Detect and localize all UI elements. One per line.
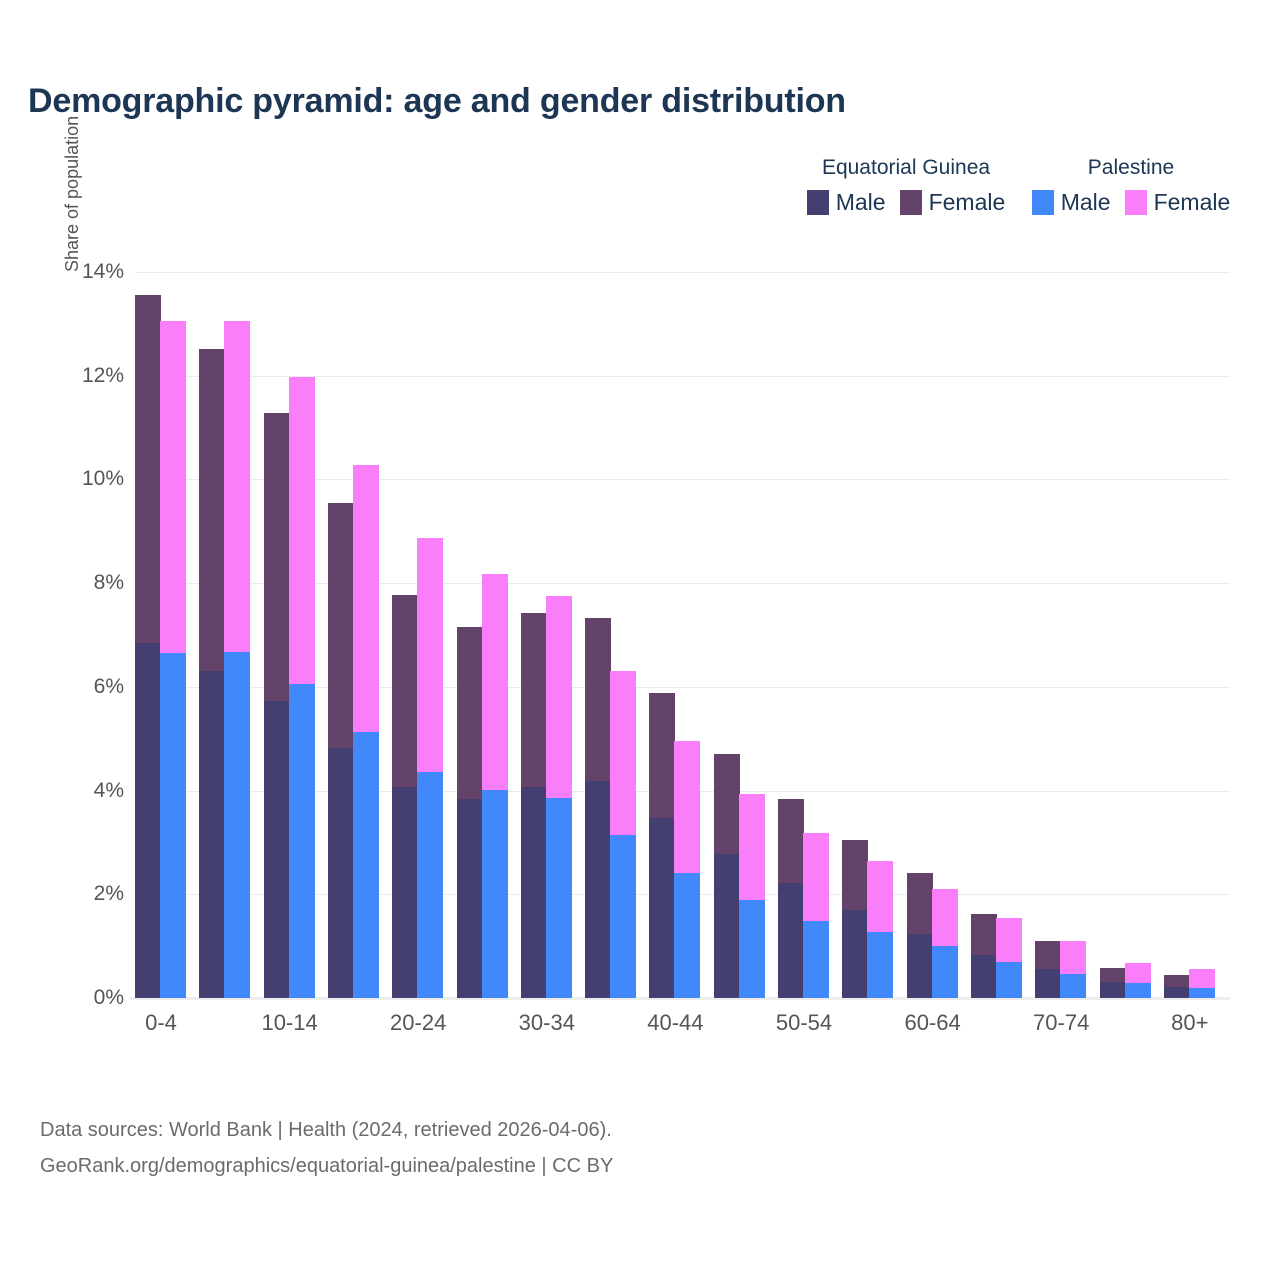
bar-equatorial-guinea-male-segment — [457, 799, 483, 998]
bar-palestine[interactable] — [803, 833, 829, 998]
bar-palestine-male-segment — [1125, 983, 1151, 998]
bar-palestine[interactable] — [867, 861, 893, 998]
x-axis-tick-label: 20-24 — [390, 1010, 446, 1036]
bar-equatorial-guinea[interactable] — [1035, 941, 1061, 998]
bar-equatorial-guinea-male-segment — [907, 934, 933, 998]
bar-equatorial-guinea[interactable] — [649, 693, 675, 998]
bar-palestine[interactable] — [289, 377, 315, 998]
bar-equatorial-guinea-female-segment — [649, 693, 675, 817]
x-axis-tick-label: 10-14 — [261, 1010, 317, 1036]
bar-palestine-female-segment — [932, 889, 958, 946]
bar-group[interactable] — [392, 272, 445, 998]
bar-equatorial-guinea[interactable] — [392, 595, 418, 998]
legend-item-eg-male[interactable]: Male — [807, 189, 886, 216]
x-axis-tick-label: 70-74 — [1033, 1010, 1089, 1036]
y-axis-tick-label: 12% — [14, 364, 124, 388]
bar-equatorial-guinea[interactable] — [907, 873, 933, 998]
bar-palestine[interactable] — [1060, 941, 1086, 998]
bar-palestine[interactable] — [1189, 969, 1215, 998]
bar-equatorial-guinea-female-segment — [1100, 968, 1126, 982]
bar-palestine[interactable] — [417, 538, 443, 998]
bar-group[interactable] — [328, 272, 381, 998]
x-axis-tick-label: 80+ — [1171, 1010, 1208, 1036]
bar-equatorial-guinea[interactable] — [1100, 968, 1126, 998]
legend-label-ps-male: Male — [1061, 189, 1111, 216]
bar-equatorial-guinea-female-segment — [457, 627, 483, 800]
bar-palestine-female-segment — [1189, 969, 1215, 988]
x-axis-tick-label: 40-44 — [647, 1010, 703, 1036]
bar-equatorial-guinea-male-segment — [1164, 987, 1190, 998]
bar-palestine-male-segment — [803, 921, 829, 998]
bar-palestine-male-segment — [353, 732, 379, 998]
bar-palestine[interactable] — [1125, 963, 1151, 998]
bar-palestine[interactable] — [674, 741, 700, 998]
legend-item-ps-female[interactable]: Female — [1125, 189, 1231, 216]
bar-palestine[interactable] — [160, 321, 186, 998]
bar-equatorial-guinea-female-segment — [135, 295, 161, 642]
bar-equatorial-guinea-male-segment — [1100, 982, 1126, 998]
bar-group[interactable] — [135, 272, 188, 998]
bar-palestine[interactable] — [353, 465, 379, 998]
bar-equatorial-guinea[interactable] — [778, 799, 804, 998]
bar-palestine-male-segment — [160, 653, 186, 998]
bar-equatorial-guinea-female-segment — [778, 799, 804, 883]
legend-items: Male Female Male Female — [792, 189, 1242, 216]
bar-equatorial-guinea-male-segment — [392, 787, 418, 998]
y-axis-ticks: 0%2%4%6%8%10%12%14% — [14, 272, 124, 998]
bar-equatorial-guinea-female-segment — [199, 349, 225, 672]
bar-palestine-male-segment — [674, 873, 700, 998]
bar-palestine-female-segment — [546, 596, 572, 799]
bar-equatorial-guinea[interactable] — [842, 840, 868, 998]
bar-palestine-male-segment — [546, 798, 572, 998]
legend-group-titles: Equatorial Guinea Palestine — [792, 155, 1242, 181]
y-axis-tick-label: 2% — [14, 882, 124, 906]
bar-palestine-female-segment — [1060, 941, 1086, 974]
bar-equatorial-guinea[interactable] — [521, 613, 547, 998]
legend-group-title-equatorial-guinea: Equatorial Guinea — [792, 155, 1020, 181]
bar-group[interactable] — [199, 272, 252, 998]
bar-equatorial-guinea[interactable] — [971, 914, 997, 998]
bar-palestine[interactable] — [932, 889, 958, 998]
bar-group[interactable] — [521, 272, 574, 998]
bar-palestine-female-segment — [1125, 963, 1151, 984]
bar-palestine-female-segment — [224, 321, 250, 652]
bar-equatorial-guinea[interactable] — [714, 754, 740, 998]
bar-equatorial-guinea-male-segment — [521, 787, 547, 998]
bar-palestine-female-segment — [803, 833, 829, 921]
bar-palestine-female-segment — [482, 574, 508, 790]
bar-equatorial-guinea-female-segment — [585, 618, 611, 781]
bar-palestine[interactable] — [546, 596, 572, 998]
bar-palestine-male-segment — [867, 932, 893, 998]
legend-set-equatorial-guinea: Male Female — [792, 189, 1020, 216]
x-axis-tick-label: 0-4 — [145, 1010, 177, 1036]
legend-label-eg-male: Male — [836, 189, 886, 216]
bar-equatorial-guinea-female-segment — [264, 413, 290, 701]
y-axis-tick-label: 8% — [14, 571, 124, 595]
bar-group[interactable] — [714, 272, 767, 998]
bar-equatorial-guinea[interactable] — [457, 627, 483, 998]
bar-equatorial-guinea-male-segment — [1035, 969, 1061, 998]
bar-group[interactable] — [1035, 272, 1088, 998]
y-axis-tick-label: 6% — [14, 675, 124, 699]
bar-palestine-male-segment — [1060, 974, 1086, 998]
bar-palestine[interactable] — [482, 574, 508, 998]
bar-equatorial-guinea-male-segment — [328, 748, 354, 998]
bar-equatorial-guinea-female-segment — [1035, 941, 1061, 970]
bar-equatorial-guinea-female-segment — [842, 840, 868, 909]
square-swatch-icon-eg-male — [807, 190, 829, 215]
bar-group[interactable] — [457, 272, 510, 998]
bar-group[interactable] — [842, 272, 895, 998]
bar-equatorial-guinea-male-segment — [135, 643, 161, 998]
bar-palestine-female-segment — [289, 377, 315, 684]
chart-page: Demographic pyramid: age and gender dist… — [0, 0, 1280, 1280]
legend-set-palestine: Male Female — [1020, 189, 1242, 216]
bar-group[interactable] — [907, 272, 960, 998]
bar-palestine-male-segment — [1189, 988, 1215, 998]
legend-group-title-palestine: Palestine — [1020, 155, 1242, 181]
x-axis-tick-label: 50-54 — [776, 1010, 832, 1036]
bar-palestine[interactable] — [610, 671, 636, 998]
bar-equatorial-guinea-female-segment — [714, 754, 740, 854]
bar-equatorial-guinea[interactable] — [264, 413, 290, 998]
bar-palestine-male-segment — [932, 946, 958, 998]
y-axis-tick-label: 4% — [14, 779, 124, 803]
x-axis-tick-label: 30-34 — [519, 1010, 575, 1036]
bar-palestine-female-segment — [160, 321, 186, 653]
bar-equatorial-guinea[interactable] — [1164, 975, 1190, 998]
bar-equatorial-guinea-male-segment — [649, 818, 675, 998]
bar-palestine-male-segment — [610, 835, 636, 998]
bar-palestine-female-segment — [996, 918, 1022, 962]
bar-palestine[interactable] — [996, 918, 1022, 998]
bar-palestine-male-segment — [996, 962, 1022, 998]
bar-equatorial-guinea[interactable] — [135, 295, 161, 998]
bar-palestine-female-segment — [353, 465, 379, 732]
square-swatch-icon-eg-female — [900, 190, 922, 215]
bar-palestine-male-segment — [739, 900, 765, 998]
bar-palestine-male-segment — [224, 652, 250, 998]
bar-palestine-male-segment — [482, 790, 508, 998]
bar-equatorial-guinea-female-segment — [971, 914, 997, 955]
bar-equatorial-guinea-male-segment — [714, 854, 740, 998]
bar-equatorial-guinea-male-segment — [778, 883, 804, 998]
bar-equatorial-guinea-male-segment — [971, 955, 997, 998]
bar-equatorial-guinea[interactable] — [585, 618, 611, 998]
bar-palestine-female-segment — [867, 861, 893, 932]
chart-legend: Equatorial Guinea Palestine Male Female … — [792, 155, 1242, 216]
bar-equatorial-guinea-male-segment — [199, 671, 225, 998]
bar-palestine-female-segment — [739, 794, 765, 900]
legend-label-ps-female: Female — [1154, 189, 1231, 216]
bar-equatorial-guinea-female-segment — [1164, 975, 1190, 986]
chart-footer: Data sources: World Bank | Health (2024,… — [40, 1112, 613, 1184]
bar-equatorial-guinea-male-segment — [264, 701, 290, 998]
y-axis-title: Share of population — [62, 116, 83, 272]
footer-attribution: GeoRank.org/demographics/equatorial-guin… — [40, 1148, 613, 1184]
square-swatch-icon-ps-female — [1125, 190, 1147, 215]
plot-area: 0-410-1420-2430-3440-4450-5460-6470-7480… — [135, 272, 1230, 998]
bar-group[interactable] — [1100, 272, 1153, 998]
bar-palestine-female-segment — [417, 538, 443, 772]
bar-group[interactable] — [585, 272, 638, 998]
bar-equatorial-guinea-male-segment — [842, 910, 868, 998]
bar-palestine-male-segment — [417, 772, 443, 998]
bar-equatorial-guinea-female-segment — [328, 503, 354, 748]
legend-label-eg-female: Female — [929, 189, 1006, 216]
bar-palestine[interactable] — [739, 794, 765, 998]
y-axis-tick-label: 10% — [14, 467, 124, 491]
bar-equatorial-guinea-female-segment — [521, 613, 547, 787]
bar-equatorial-guinea-female-segment — [907, 873, 933, 934]
bar-equatorial-guinea-male-segment — [585, 781, 611, 998]
y-axis-tick-label: 14% — [14, 260, 124, 284]
bar-equatorial-guinea[interactable] — [199, 349, 225, 998]
page-title: Demographic pyramid: age and gender dist… — [28, 82, 846, 121]
bar-group[interactable] — [778, 272, 831, 998]
bar-group[interactable] — [649, 272, 702, 998]
bar-group[interactable] — [971, 272, 1024, 998]
bar-equatorial-guinea[interactable] — [328, 503, 354, 998]
bar-group[interactable] — [264, 272, 317, 998]
legend-item-eg-female[interactable]: Female — [900, 189, 1006, 216]
y-axis-tick-label: 0% — [14, 986, 124, 1010]
x-axis-tick-label: 60-64 — [904, 1010, 960, 1036]
bar-palestine-female-segment — [610, 671, 636, 835]
bar-group[interactable] — [1164, 272, 1217, 998]
footer-data-sources: Data sources: World Bank | Health (2024,… — [40, 1112, 613, 1148]
bar-palestine-female-segment — [674, 741, 700, 872]
square-swatch-icon-ps-male — [1032, 190, 1054, 215]
bar-palestine-male-segment — [289, 684, 315, 998]
bar-equatorial-guinea-female-segment — [392, 595, 418, 787]
legend-item-ps-male[interactable]: Male — [1032, 189, 1111, 216]
bar-palestine[interactable] — [224, 321, 250, 998]
